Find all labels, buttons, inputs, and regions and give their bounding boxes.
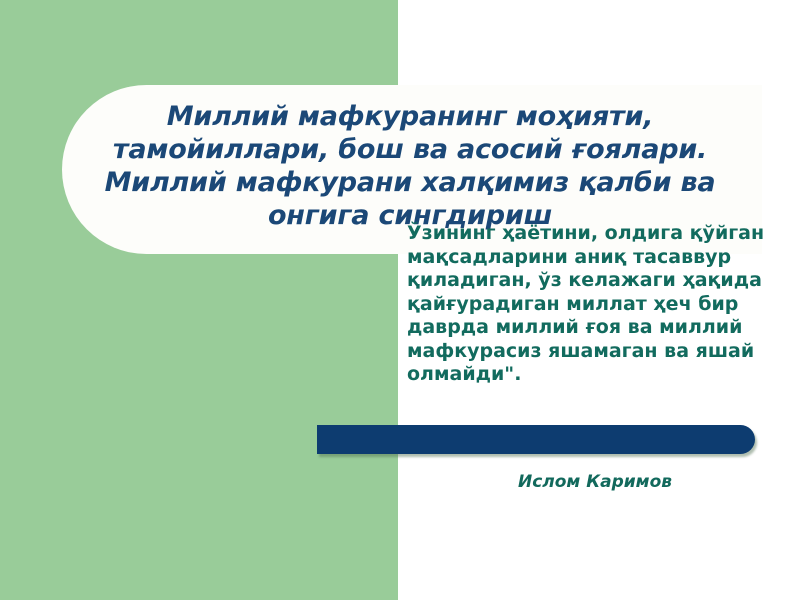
presentation-slide: Миллий мафкуранинг моҳияти, тамойиллари,… [0, 0, 800, 600]
quote-body-text: Ўзининг ҳаётини, олдига қўйган мақсадлар… [407, 222, 772, 387]
quote-attribution: Ислом Каримов [430, 472, 760, 492]
navy-accent-bar [317, 425, 755, 454]
slide-title: Миллий мафкуранинг моҳияти, тамойиллари,… [70, 100, 750, 232]
